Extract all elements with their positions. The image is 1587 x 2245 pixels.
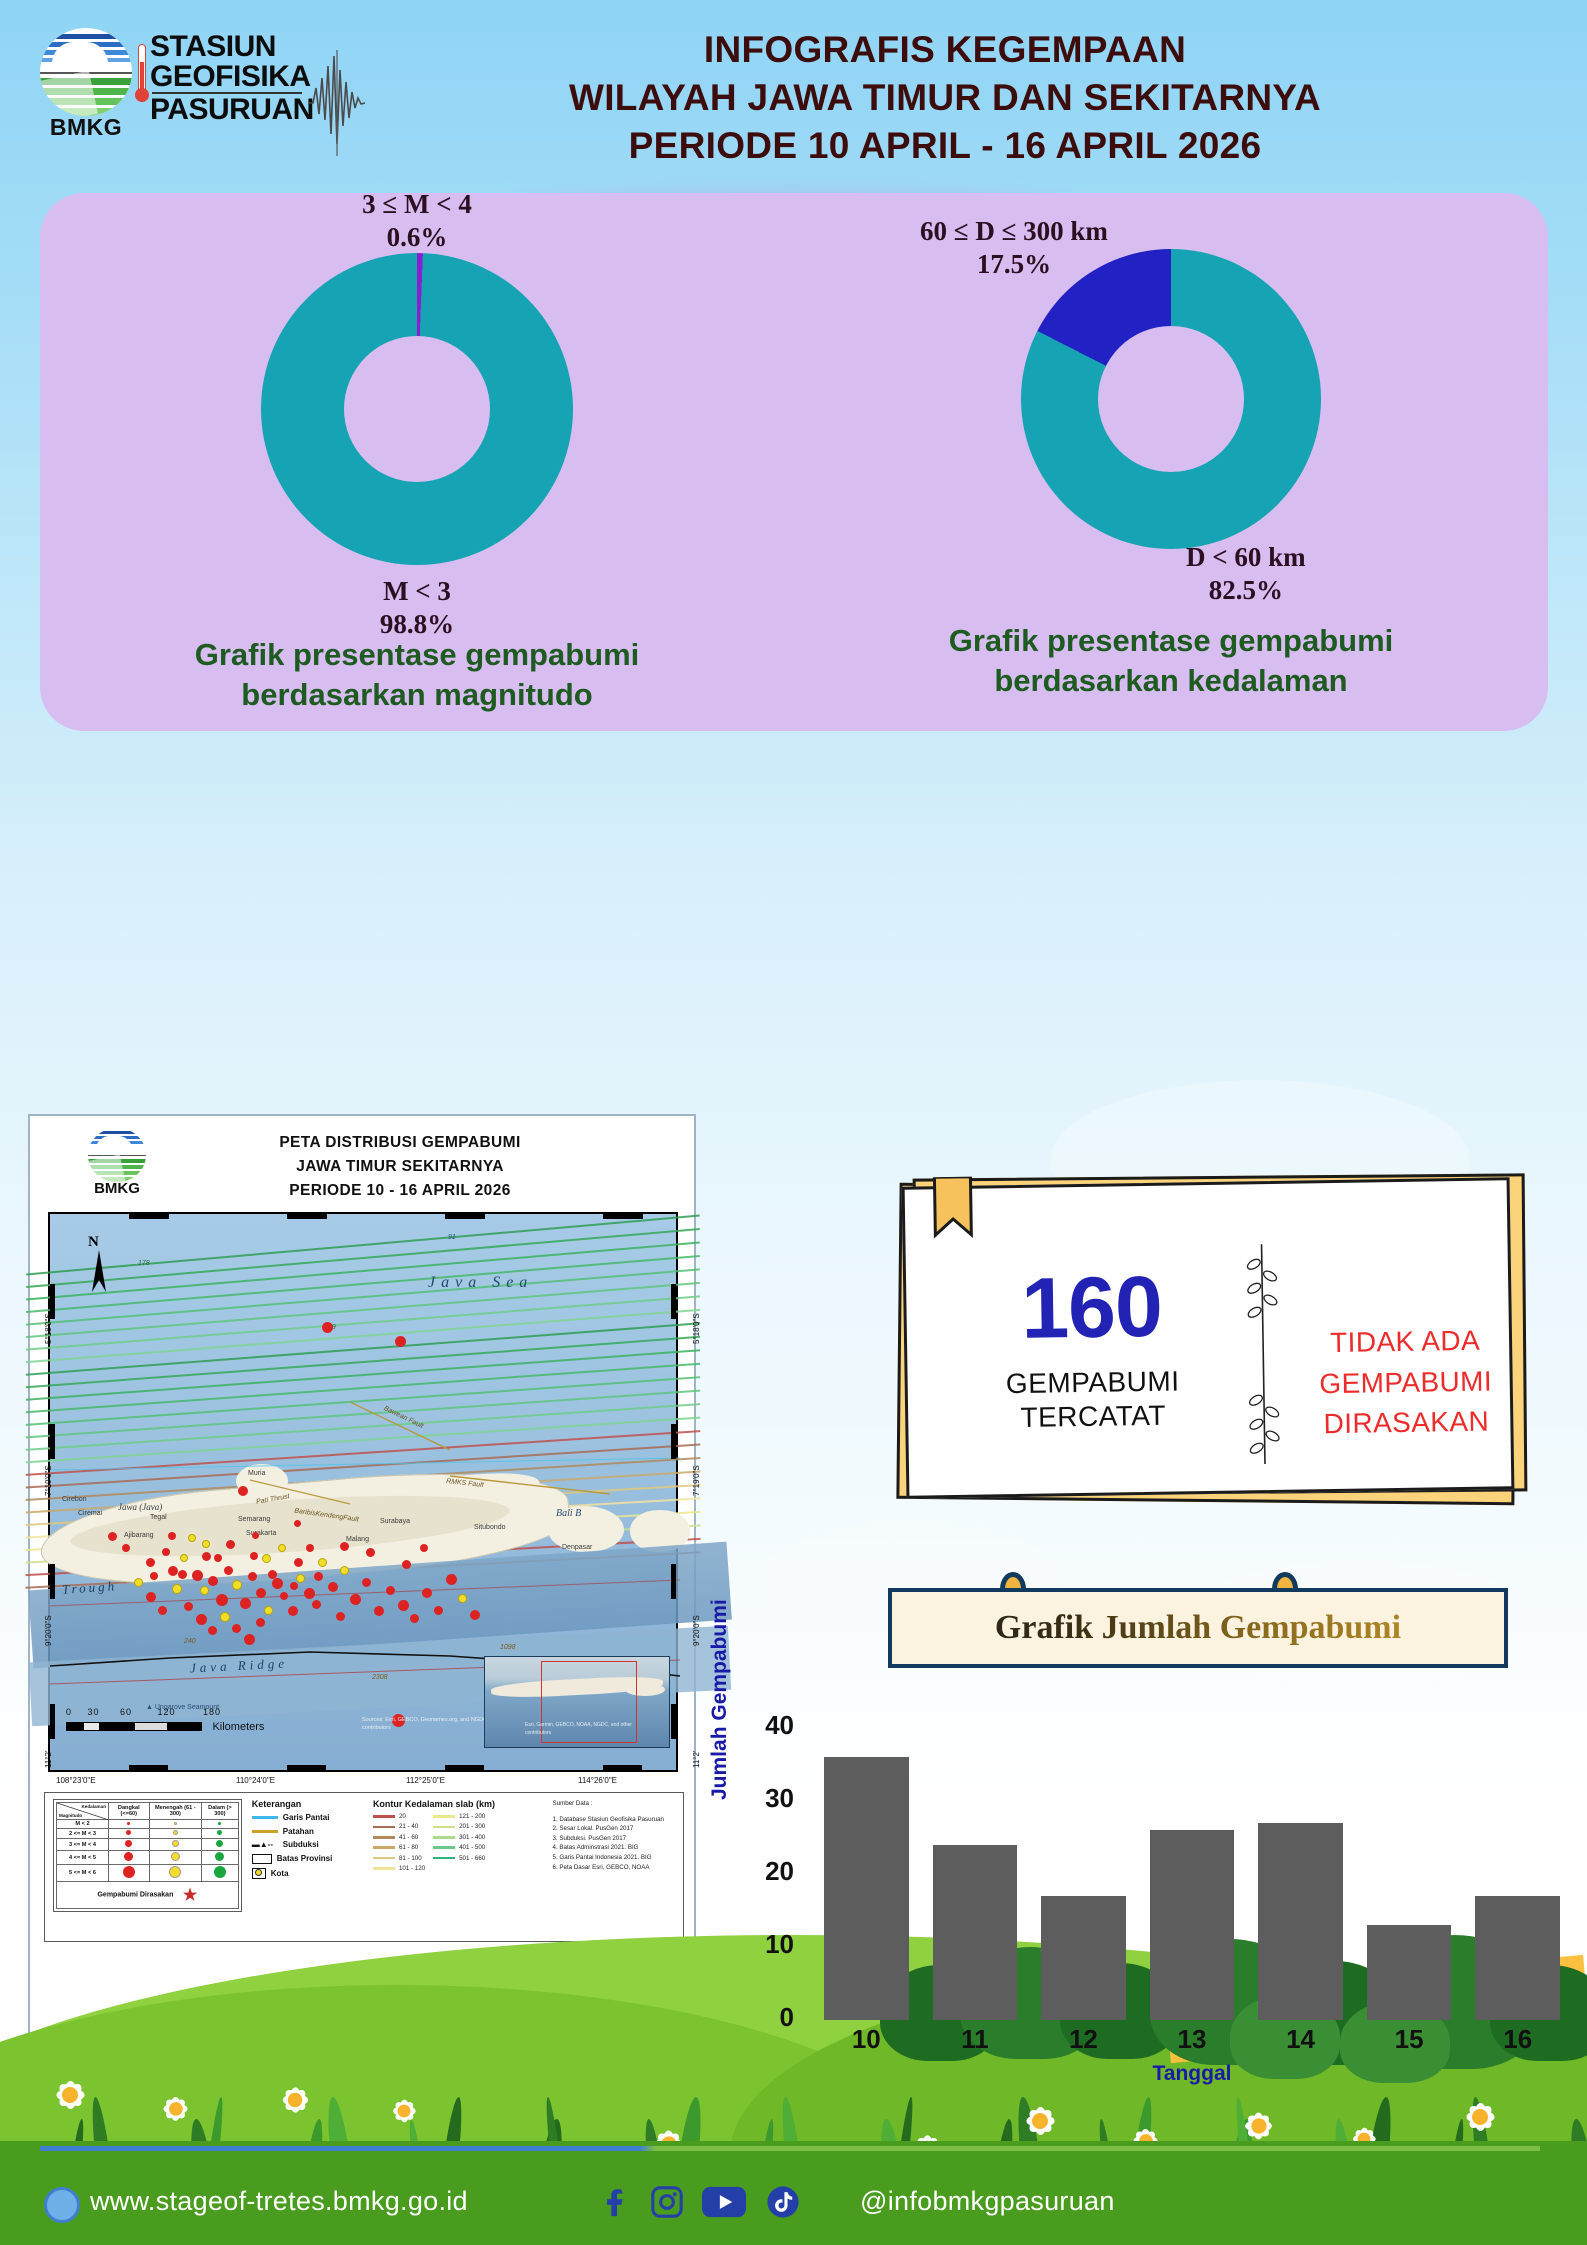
quake-marker [150, 1572, 158, 1580]
earthquake-count-number: 160 [966, 1263, 1217, 1353]
facebook-icon[interactable] [600, 2185, 634, 2219]
map-label-ciremai: Ciremai [78, 1510, 102, 1517]
depth-caption: Grafik presentase gempabumi berdasarkan … [794, 621, 1548, 702]
quake-marker [280, 1592, 288, 1600]
quake-marker [208, 1626, 217, 1635]
svg-text:N: N [88, 1234, 99, 1250]
quake-marker [256, 1588, 266, 1598]
quake-marker [268, 1570, 277, 1579]
title-line-3: PERIODE 10 APRIL - 16 APRIL 2026 [330, 122, 1560, 170]
quake-marker [252, 1532, 259, 1539]
quake-marker [202, 1552, 211, 1561]
quake-marker [250, 1552, 258, 1560]
quake-marker [158, 1606, 167, 1615]
chart-x-tick: 16 [1463, 2024, 1572, 2055]
quake-marker [340, 1542, 349, 1551]
percentage-charts-card: 3 ≤ M < 4 0.6% M < 3 98.8% Grafik presen… [40, 193, 1548, 731]
north-arrow-icon: N [86, 1232, 112, 1294]
chart-x-tick: 12 [1029, 2024, 1138, 2055]
felt-message: TIDAK ADA GEMPABUMI DIRASAKAN [1285, 1320, 1527, 1446]
chart-x-tick: 11 [921, 2024, 1030, 2055]
earthquake-count-label-2: TERCATAT [948, 1399, 1238, 1436]
quake-marker [238, 1486, 248, 1496]
title-line-1: INFOGRAFIS KEGEMPAAN [330, 26, 1560, 74]
magnitude-donut [261, 253, 573, 565]
chart-y-tick: 0 [742, 2002, 794, 2033]
quake-marker [220, 1612, 230, 1622]
page-header: BMKG STASIUN GEOFISIKA PASURUAN INFOGRAF… [0, 0, 1587, 175]
quake-marker [470, 1610, 480, 1620]
quake-marker [395, 1336, 406, 1347]
chart-y-tick: 40 [742, 1710, 794, 1741]
quake-marker [196, 1614, 207, 1625]
quake-marker [248, 1572, 257, 1581]
map-lat-label-left-1: 5°18'0"S [44, 1313, 53, 1344]
quake-marker [446, 1574, 457, 1585]
magnitude-bottom-label: M < 3 98.8% [380, 575, 454, 641]
quake-marker [340, 1566, 349, 1575]
quake-marker [402, 1560, 411, 1569]
map-lon-label-4: 114°26'0"E [578, 1776, 617, 1785]
map-bmkg-logo-icon: BMKG [88, 1128, 146, 1200]
quake-marker [312, 1600, 321, 1609]
quake-marker [336, 1612, 345, 1621]
quake-marker [216, 1594, 228, 1606]
quake-marker [350, 1594, 361, 1605]
quake-marker [374, 1606, 384, 1616]
chart-x-tick: 10 [812, 2024, 921, 2055]
map-label-cirebon: Cirebon [62, 1496, 87, 1503]
chart-y-tick: 10 [742, 1929, 794, 1960]
chart-bar [824, 1757, 909, 2020]
quake-marker [434, 1606, 443, 1615]
chart-banner-title: Grafik Jumlah Gempabumi [892, 1592, 1504, 1664]
quake-marker [200, 1586, 209, 1595]
quake-marker [146, 1558, 155, 1567]
chart-x-tick: 13 [1138, 2024, 1247, 2055]
map-label-muria: Muria [248, 1470, 266, 1477]
station-line3: PASURUAN [150, 95, 314, 125]
chart-bar [1150, 1830, 1235, 2020]
depth-chart-unit: 60 ≤ D ≤ 300 km 17.5% D < 60 km 82.5% Gr… [794, 193, 1548, 731]
legend-contour-title: Kontur Kedalaman slab (km) [373, 1799, 543, 1809]
earthquake-count-card: 160 GEMPABUMI TERCATAT TIDAK ADA GEMPABU… [880, 1160, 1540, 1516]
chart-x-ticks: 10111213141516 [812, 2024, 1572, 2056]
map-label-denpasar: Denpasar [562, 1544, 592, 1551]
depth-bottom-label: D < 60 km 82.5% [1186, 541, 1306, 607]
quake-marker [108, 1532, 117, 1541]
station-line1: STASIUN [150, 32, 314, 62]
quake-marker [294, 1520, 301, 1527]
map-header: BMKG PETA DISTRIBUSI GEMPABUMI JAWA TIMU… [30, 1116, 694, 1212]
map-label-ajibarang: Ajibarang [124, 1532, 154, 1539]
social-handle[interactable]: @infobmkgpasuruan [860, 2186, 1115, 2217]
daisy-flower [154, 2087, 197, 2130]
map-contour-num-2308: 2308 [372, 1674, 388, 1681]
map-contour-num-91: 91 [448, 1234, 456, 1241]
depth-donut [1021, 249, 1321, 549]
footer-divider [40, 2146, 1540, 2151]
chart-x-axis-title: Tanggal [812, 2062, 1572, 2086]
map-lat-label-right-3: 9°20'0"S [692, 1615, 701, 1646]
quake-marker [224, 1566, 233, 1575]
quake-marker [304, 1588, 315, 1599]
map-lat-label-right-1: 5°18'0"S [692, 1313, 701, 1344]
map-lon-label-3: 112°25'0"E [406, 1776, 445, 1785]
quake-marker [278, 1544, 286, 1552]
chart-bar [1367, 1925, 1452, 2020]
quake-marker [366, 1548, 375, 1557]
quake-marker [322, 1322, 333, 1333]
quake-marker [232, 1624, 241, 1633]
page-title: INFOGRAFIS KEGEMPAAN WILAYAH JAWA TIMUR … [330, 26, 1560, 170]
quake-marker [244, 1634, 255, 1645]
earthquake-count-chart: Jumlah Gempabumi 010203040 1011121314151… [700, 1700, 1580, 2100]
quake-marker [314, 1572, 323, 1581]
legend-source-title: Sumber Data : [553, 1799, 675, 1809]
map-label-surakarta: Surakarta [246, 1530, 276, 1537]
bmkg-logo-text: BMKG [40, 114, 132, 141]
magnitude-donut-ring [261, 253, 573, 565]
earthquake-count-label-1: GEMPABUMI [947, 1365, 1237, 1402]
quake-marker [306, 1544, 314, 1552]
map-lon-label-1: 108°23'0"E [56, 1776, 96, 1785]
map-lat-label-left-3: 9°20'0"S [44, 1615, 53, 1646]
chart-banner: Grafik Jumlah Gempabumi [888, 1588, 1508, 1668]
map-label-malang: Malang [346, 1536, 369, 1543]
instagram-icon[interactable] [650, 2185, 684, 2219]
quake-marker [232, 1580, 242, 1590]
quake-marker [318, 1558, 327, 1567]
magnitude-caption: Grafik presentase gempabumi berdasarkan … [40, 635, 794, 716]
chart-bar [1475, 1896, 1560, 2020]
title-line-2: WILAYAH JAWA TIMUR DAN SEKITARNYA [330, 74, 1560, 122]
map-scale-bar: 0 30 60 120 180 Kilometers [66, 1707, 264, 1736]
station-name: STASIUN GEOFISIKA PASURUAN [150, 32, 314, 125]
depth-donut-ring [1021, 249, 1321, 549]
quake-marker [162, 1548, 170, 1556]
quake-marker [398, 1600, 409, 1611]
quake-marker [458, 1594, 467, 1603]
map-label-tegal: Tegal [150, 1514, 167, 1521]
map-canvas[interactable]: Java Sea Trough Java Ridge Jawa (Java) B… [48, 1212, 678, 1772]
map-inset: Esri, Garmin, GEBCO, NOAA, NGDC, and oth… [484, 1656, 670, 1748]
chart-bar [1258, 1823, 1343, 2020]
felt-message-line-3: DIRASAKAN [1286, 1401, 1527, 1445]
quake-marker [420, 1544, 428, 1552]
quake-marker [168, 1566, 178, 1576]
quake-marker [294, 1558, 303, 1567]
quake-marker [422, 1588, 432, 1598]
bookmark-ribbon-icon [932, 1177, 973, 1244]
chart-x-tick: 15 [1355, 2024, 1464, 2055]
youtube-icon[interactable] [702, 2185, 746, 2219]
quake-marker [208, 1576, 218, 1586]
website-url[interactable]: www.stageof-tretes.bmkg.go.id [90, 2186, 468, 2217]
daisy-flower [40, 2065, 100, 2125]
quake-marker [214, 1554, 222, 1562]
quake-marker [262, 1554, 271, 1563]
map-title-line-1: PETA DISTRIBUSI GEMPABUMI [190, 1131, 610, 1155]
map-lat-label-right-2: 7°19'0"S [692, 1465, 701, 1496]
felt-message-line-1: TIDAK ADA [1285, 1320, 1526, 1364]
quake-marker [134, 1578, 143, 1587]
quake-marker [264, 1606, 273, 1615]
quake-marker [168, 1532, 176, 1540]
map-lat-label-left-4: 11°2' [44, 1751, 53, 1768]
legend-keterangan-title: Keterangan [252, 1799, 363, 1809]
magnitude-top-label: 3 ≤ M < 4 0.6% [362, 188, 472, 254]
quake-marker [410, 1614, 419, 1623]
chart-y-axis-title: Jumlah Gempabumi [708, 1599, 732, 1800]
quake-marker [178, 1570, 187, 1579]
map-bmkg-logo-text: BMKG [88, 1180, 146, 1197]
station-line2: GEOFISIKA [150, 62, 314, 92]
thermometer-icon [134, 44, 150, 110]
quake-marker [240, 1598, 251, 1609]
chart-plot-area [812, 1728, 1572, 2020]
map-label-surabaya: Surabaya [380, 1518, 410, 1525]
map-title: PETA DISTRIBUSI GEMPABUMI JAWA TIMUR SEK… [190, 1131, 610, 1203]
quake-marker [180, 1554, 188, 1562]
tiktok-icon[interactable] [766, 2185, 800, 2219]
quake-marker [296, 1574, 305, 1583]
quake-marker [290, 1582, 298, 1590]
quake-marker [226, 1540, 235, 1549]
chart-y-tick: 30 [742, 1783, 794, 1814]
chart-x-tick: 14 [1246, 2024, 1355, 2055]
card-paper-front: 160 GEMPABUMI TERCATAT TIDAK ADA GEMPABU… [902, 1177, 1515, 1499]
quake-marker [386, 1586, 395, 1595]
quake-marker [362, 1578, 371, 1587]
magnitude-chart-unit: 3 ≤ M < 4 0.6% M < 3 98.8% Grafik presen… [40, 193, 794, 731]
map-contour-num-178: 178 [138, 1260, 150, 1267]
map-contour-num-240: 240 [184, 1638, 196, 1645]
map-title-line-3: PERIODE 10 - 16 APRIL 2026 [190, 1179, 610, 1203]
bmkg-logo-icon: BMKG [40, 28, 132, 128]
chart-bar [933, 1845, 1018, 2020]
chart-y-tick: 20 [742, 1856, 794, 1887]
map-contour-num-1098: 1098 [500, 1644, 516, 1651]
map-label-situbondo: Situbondo [474, 1524, 506, 1531]
quake-marker [288, 1606, 298, 1616]
leaf-divider-icon [1242, 1244, 1285, 1465]
chart-bar [1041, 1896, 1126, 2020]
bmkg-logo: BMKG STASIUN GEOFISIKA PASURUAN [34, 24, 334, 154]
daisy-flower [385, 2092, 423, 2130]
quake-marker [256, 1618, 265, 1627]
map-label-semarang: Semarang [238, 1516, 270, 1523]
map-title-line-2: JAWA TIMUR SEKITARNYA [190, 1155, 610, 1179]
daisy-flower [271, 2076, 320, 2125]
felt-message-line-2: GEMPABUMI [1285, 1361, 1526, 1405]
quake-marker [172, 1584, 182, 1594]
quake-marker [202, 1540, 210, 1548]
quake-marker [272, 1578, 283, 1589]
map-lon-label-2: 110°24'0"E [236, 1776, 275, 1785]
quake-marker [122, 1544, 130, 1552]
quake-marker [328, 1582, 338, 1592]
quake-marker [184, 1602, 193, 1611]
quake-marker [188, 1534, 196, 1542]
quake-marker [192, 1570, 203, 1581]
map-lat-label-left-2: 7°19'0"S [44, 1465, 53, 1496]
quake-marker [146, 1592, 156, 1602]
website-globe-icon[interactable] [44, 2187, 80, 2223]
